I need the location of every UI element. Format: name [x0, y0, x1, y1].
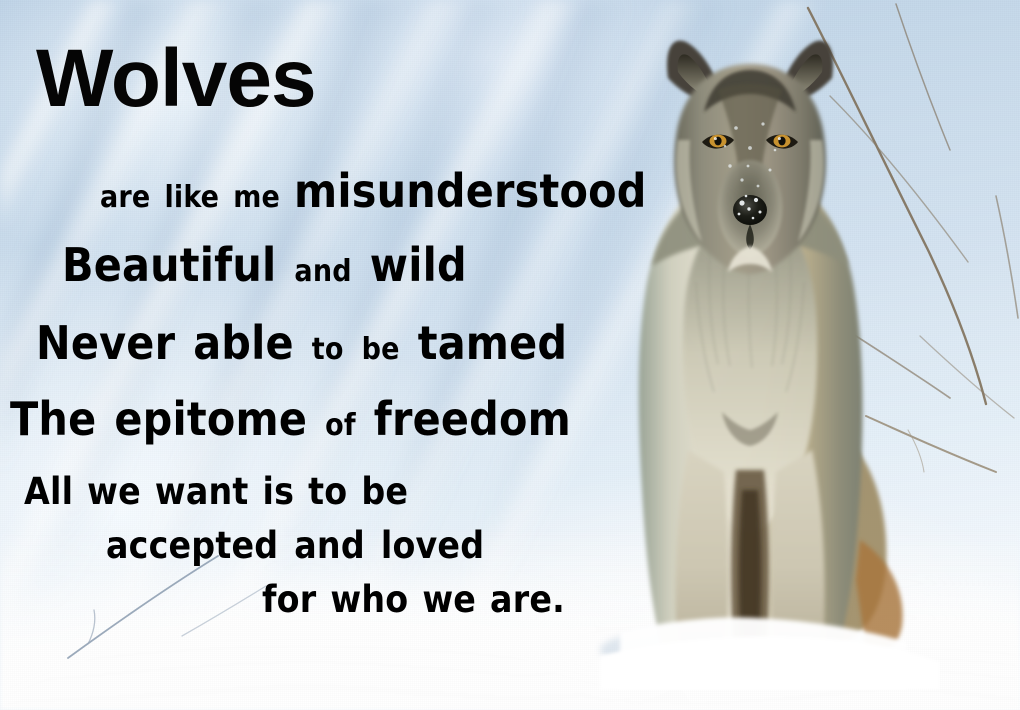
wolves-quote-poster: Wolves are like me misunderstood Beautif… [0, 0, 1020, 710]
quote-word: misunderstood [294, 164, 647, 218]
quote-word: to [312, 332, 344, 367]
wolf-eye-left [702, 135, 734, 149]
quote-word: to [308, 470, 347, 513]
quote-line-3: Never able to be tamed [36, 316, 567, 370]
quote-line-7: for who we are. [262, 578, 565, 621]
quote-word: All [24, 470, 73, 513]
quote-line-6: accepted and loved [106, 524, 484, 567]
quote-word: tamed [418, 316, 568, 370]
quote-word: for [262, 578, 316, 621]
quote-word: loved [381, 524, 484, 567]
quote-word: and [294, 524, 365, 567]
quote-word: wild [370, 238, 467, 292]
quote-word: of [325, 408, 356, 443]
quote-word: we [422, 578, 476, 621]
wolf-eye-right [766, 135, 798, 149]
quote-word: is [263, 470, 295, 513]
wolf-illustration [560, 20, 940, 690]
quote-word: who [330, 578, 408, 621]
quote-word: Never [36, 316, 175, 370]
quote-line-2: Beautiful and wild [62, 238, 467, 292]
quote-word: we [87, 470, 141, 513]
quote-word: Beautiful [62, 238, 276, 292]
twig-icon [800, 0, 1020, 420]
quote-word: me [233, 180, 280, 215]
quote-word: are. [490, 578, 565, 621]
quote-word: want [155, 470, 249, 513]
quote-word: and [294, 254, 351, 289]
quote-word: be [362, 332, 400, 367]
page-title: Wolves [36, 38, 316, 120]
quote-word: able [193, 316, 294, 370]
quote-line-5: All we want is to be [24, 470, 408, 513]
quote-word: accepted [106, 524, 278, 567]
quote-word: be [361, 470, 408, 513]
quote-line-4: The epitome of freedom [10, 392, 571, 446]
quote-word: freedom [374, 392, 571, 446]
quote-word: like [164, 180, 219, 215]
quote-word: epitome [114, 392, 307, 446]
quote-word: The [10, 392, 96, 446]
quote-line-1: are like me misunderstood [100, 164, 647, 218]
quote-word: are [100, 180, 150, 215]
twig-icon [850, 400, 1000, 530]
